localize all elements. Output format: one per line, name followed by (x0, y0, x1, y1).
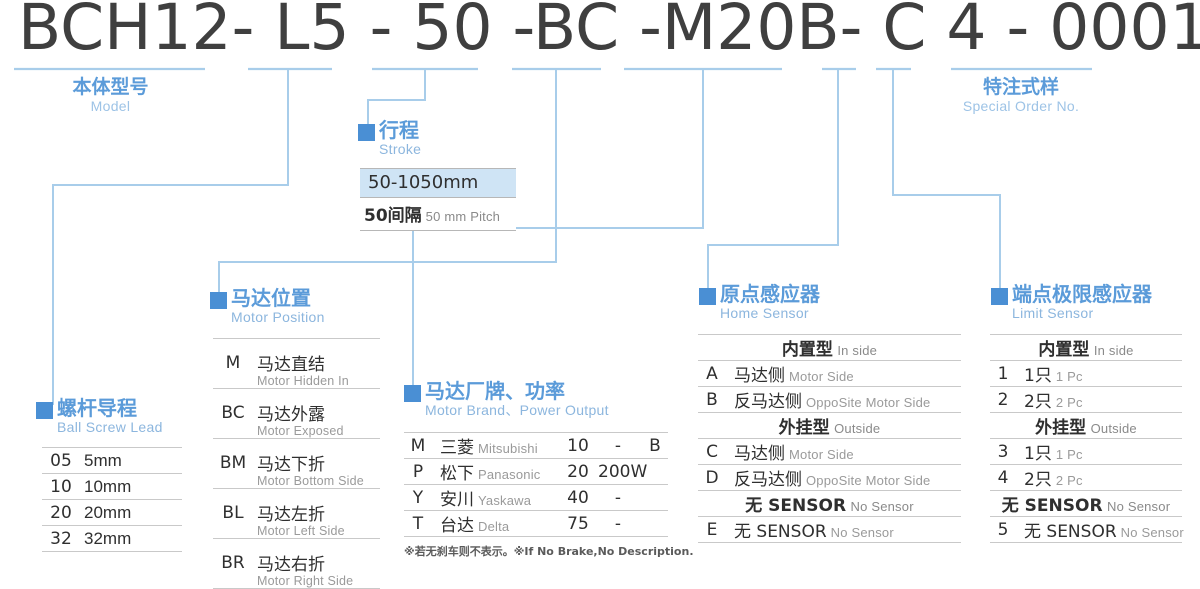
stroke-table: 50-1050mm 50间隔50 mm Pitch (360, 168, 516, 231)
motor-brand-code: Y (404, 485, 432, 511)
motor-brand-heading: 马达厂牌、功率 Motor Brand、Power Output (404, 381, 609, 418)
motor-position-desc: 马达左折Motor Left Side (253, 488, 380, 538)
table-row: B反马达侧OppoSite Motor Side (698, 387, 961, 413)
table-row: P松下Panasonic20200W (404, 459, 668, 485)
motor-position-title-en: Motor Position (231, 309, 325, 325)
stroke-pitch-en: 50 mm Pitch (426, 209, 500, 224)
motor-power-watt: - (594, 433, 642, 459)
ball-screw-lead-title-en: Ball Screw Lead (57, 419, 163, 435)
limit-sensor-code: 3 (990, 439, 1016, 465)
table-row: 22只2 Pc (990, 387, 1182, 413)
home-sensor-band: 内置型 In side (698, 335, 961, 361)
limit-sensor-code: 2 (990, 387, 1016, 413)
table-section-row: 内置型 In side (990, 335, 1182, 361)
table-row: M三菱Mitsubishi10-B (404, 433, 668, 459)
lead-code: 10 (42, 474, 80, 500)
table-row: E无 SENSORNo Sensor (698, 517, 961, 543)
home-sensor-table: 内置型 In sideA马达侧Motor SideB反马达侧OppoSite M… (698, 334, 961, 543)
limit-sensor-desc: 1只1 Pc (1016, 439, 1182, 465)
home-sensor-code: D (698, 465, 726, 491)
blue-square-marker-icon (991, 288, 1008, 305)
motor-position-code: BR (213, 538, 253, 588)
motor-position-code: BM (213, 438, 253, 488)
caption-special-order-cn: 特注式样 (931, 76, 1111, 98)
blue-square-marker-icon (699, 288, 716, 305)
motor-position-desc: 马达直结Motor Hidden In (253, 339, 380, 389)
limit-sensor-code: 1 (990, 361, 1016, 387)
table-row: A马达侧Motor Side (698, 361, 961, 387)
table-row: 1010mm (42, 474, 182, 500)
ball-screw-lead-table: 055mm1010mm2020mm3232mm (42, 447, 182, 552)
table-row: Y安川Yaskawa40- (404, 485, 668, 511)
limit-sensor-desc: 1只1 Pc (1016, 361, 1182, 387)
home-sensor-title-en: Home Sensor (720, 305, 820, 321)
motor-position-code: BC (213, 388, 253, 438)
table-row: 3232mm (42, 526, 182, 552)
limit-sensor-code: 4 (990, 465, 1016, 491)
motor-position-desc: 马达下折Motor Bottom Side (253, 438, 380, 488)
limit-sensor-title-en: Limit Sensor (1012, 305, 1152, 321)
motor-brand-code: M (404, 433, 432, 459)
stroke-title-cn: 行程 (379, 120, 421, 141)
stroke-heading: 行程 Stroke (358, 120, 421, 157)
limit-sensor-desc: 2只2 Pc (1016, 387, 1182, 413)
caption-special-order: 特注式样 Special Order No. (931, 76, 1111, 115)
blue-square-marker-icon (358, 124, 375, 141)
motor-position-code: M (213, 339, 253, 389)
limit-sensor-desc: 2只2 Pc (1016, 465, 1182, 491)
motor-power-code: 75 (562, 511, 594, 537)
limit-sensor-title-cn: 端点极限感应器 (1012, 284, 1152, 305)
limit-sensor-band: 无 SENSOR No Sensor (990, 491, 1182, 517)
motor-power-code: 40 (562, 485, 594, 511)
motor-brand-title-cn: 马达厂牌、功率 (425, 381, 609, 402)
motor-brand-title-en: Motor Brand、Power Output (425, 402, 609, 418)
section-limit-sensor: 端点极限感应器 Limit Sensor (991, 284, 1152, 321)
lead-value: 20mm (80, 500, 182, 526)
home-sensor-desc: 马达侧Motor Side (726, 439, 961, 465)
motor-brand-name: 台达Delta (432, 511, 562, 537)
lead-value: 10mm (80, 474, 182, 500)
product-code-line: BCH12- L5 - 50 -BC -M20B- C 4 - 0001 (0, 0, 1200, 62)
limit-sensor-desc: 无 SENSORNo Sensor (1016, 517, 1182, 543)
motor-position-table: M马达直结Motor Hidden InBC马达外露Motor ExposedB… (213, 338, 380, 589)
table-row: 5无 SENSORNo Sensor (990, 517, 1182, 543)
motor-brand-note: ※若无刹车则不表示。※If No Brake,No Description. (404, 543, 694, 559)
table-row: 42只2 Pc (990, 465, 1182, 491)
section-ball-screw-lead: 螺杆导程 Ball Screw Lead (36, 398, 163, 435)
motor-power-watt: 200W (594, 459, 642, 485)
motor-brand-name: 安川Yaskawa (432, 485, 562, 511)
table-row: T台达Delta75- (404, 511, 668, 537)
lead-code: 32 (42, 526, 80, 552)
lead-code: 20 (42, 500, 80, 526)
blue-square-marker-icon (404, 385, 421, 402)
motor-brand-table: M三菱Mitsubishi10-BP松下Panasonic20200WY安川Ya… (404, 432, 668, 537)
stroke-pitch-cn: 50间隔 (364, 206, 422, 226)
limit-sensor-table: 内置型 In side11只1 Pc22只2 Pc外挂型 Outside31只1… (990, 334, 1182, 543)
home-sensor-heading: 原点感应器 Home Sensor (699, 284, 820, 321)
caption-model-en: Model (38, 98, 183, 115)
table-section-row: 无 SENSOR No Sensor (698, 491, 961, 517)
stroke-range-row: 50-1050mm (360, 168, 516, 198)
motor-brand-name: 三菱Mitsubishi (432, 433, 562, 459)
home-sensor-code: A (698, 361, 726, 387)
table-row: BC马达外露Motor Exposed (213, 388, 380, 438)
home-sensor-desc: 马达侧Motor Side (726, 361, 961, 387)
table-row: M马达直结Motor Hidden In (213, 339, 380, 389)
section-motor-position: 马达位置 Motor Position (210, 288, 325, 325)
motor-power-watt: - (594, 511, 642, 537)
home-sensor-desc: 反马达侧OppoSite Motor Side (726, 465, 961, 491)
home-sensor-code: E (698, 517, 726, 543)
table-row: D反马达侧OppoSite Motor Side (698, 465, 961, 491)
motor-brake-code (642, 485, 668, 511)
table-row: BR马达右折Motor Right Side (213, 538, 380, 588)
motor-brake-code: B (642, 433, 668, 459)
table-section-row: 无 SENSOR No Sensor (990, 491, 1182, 517)
lead-code: 05 (42, 448, 80, 474)
motor-position-desc: 马达右折Motor Right Side (253, 538, 380, 588)
home-sensor-code: C (698, 439, 726, 465)
blue-square-marker-icon (210, 292, 227, 309)
caption-special-order-en: Special Order No. (931, 98, 1111, 115)
table-row: 2020mm (42, 500, 182, 526)
caption-model-cn: 本体型号 (38, 76, 183, 98)
motor-position-title-cn: 马达位置 (231, 288, 325, 309)
motor-power-watt: - (594, 485, 642, 511)
home-sensor-code: B (698, 387, 726, 413)
table-row: BL马达左折Motor Left Side (213, 488, 380, 538)
table-row: BM马达下折Motor Bottom Side (213, 438, 380, 488)
lead-value: 5mm (80, 448, 182, 474)
table-row: 11只1 Pc (990, 361, 1182, 387)
table-section-row: 内置型 In side (698, 335, 961, 361)
caption-model: 本体型号 Model (38, 76, 183, 115)
limit-sensor-heading: 端点极限感应器 Limit Sensor (991, 284, 1152, 321)
motor-brake-code (642, 511, 668, 537)
section-home-sensor: 原点感应器 Home Sensor (699, 284, 820, 321)
home-sensor-band: 无 SENSOR No Sensor (698, 491, 961, 517)
motor-power-code: 10 (562, 433, 594, 459)
blue-square-marker-icon (36, 402, 53, 419)
table-section-row: 外挂型 Outside (698, 413, 961, 439)
product-code-text: BCH12- L5 - 50 -BC -M20B- C 4 - 0001 (18, 0, 1200, 60)
limit-sensor-band: 外挂型 Outside (990, 413, 1182, 439)
motor-power-code: 20 (562, 459, 594, 485)
table-row: 31只1 Pc (990, 439, 1182, 465)
home-sensor-band: 外挂型 Outside (698, 413, 961, 439)
limit-sensor-code: 5 (990, 517, 1016, 543)
home-sensor-desc: 反马达侧OppoSite Motor Side (726, 387, 961, 413)
table-section-row: 外挂型 Outside (990, 413, 1182, 439)
motor-brand-code: T (404, 511, 432, 537)
section-motor-brand: 马达厂牌、功率 Motor Brand、Power Output (404, 381, 609, 418)
home-sensor-desc: 无 SENSORNo Sensor (726, 517, 961, 543)
spec-code-diagram: BCH12- L5 - 50 -BC -M20B- C 4 - 0001 本体型… (0, 0, 1200, 575)
table-row: 055mm (42, 448, 182, 474)
motor-position-heading: 马达位置 Motor Position (210, 288, 325, 325)
home-sensor-title-cn: 原点感应器 (720, 284, 820, 305)
stroke-pitch-row: 50间隔50 mm Pitch (360, 198, 516, 231)
ball-screw-lead-heading: 螺杆导程 Ball Screw Lead (36, 398, 163, 435)
table-row: C马达侧Motor Side (698, 439, 961, 465)
motor-brand-code: P (404, 459, 432, 485)
stroke-title-en: Stroke (379, 141, 421, 157)
ball-screw-lead-title-cn: 螺杆导程 (57, 398, 163, 419)
motor-position-code: BL (213, 488, 253, 538)
lead-value: 32mm (80, 526, 182, 552)
motor-position-desc: 马达外露Motor Exposed (253, 388, 380, 438)
motor-brand-name: 松下Panasonic (432, 459, 562, 485)
section-stroke: 行程 Stroke (358, 120, 421, 157)
limit-sensor-band: 内置型 In side (990, 335, 1182, 361)
